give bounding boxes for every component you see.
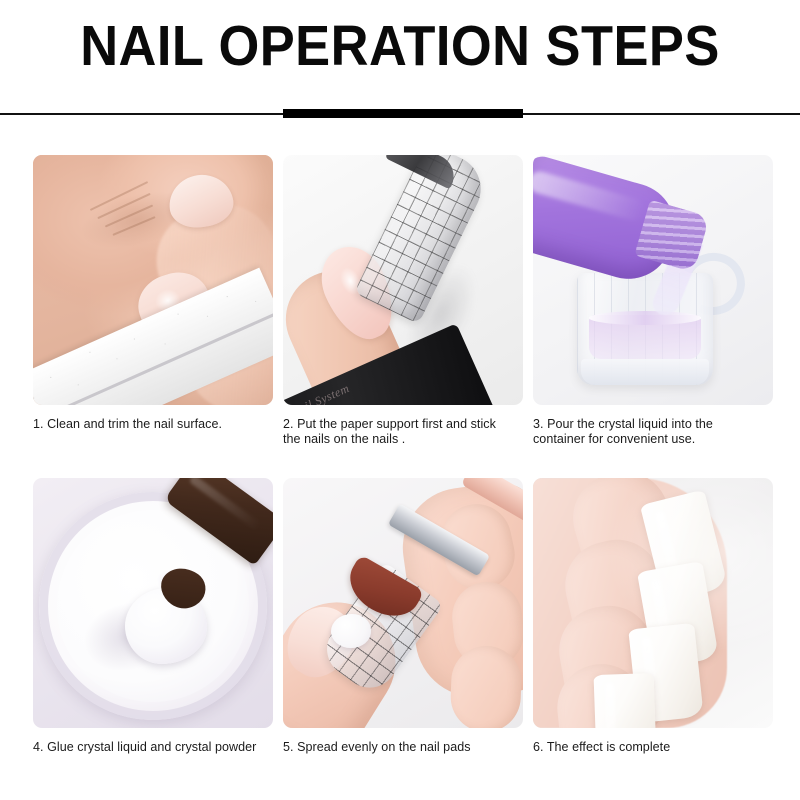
dish-base xyxy=(581,359,709,385)
divider-accent-bar xyxy=(283,109,523,118)
step-image-2: Nail System xyxy=(283,155,523,405)
step-card-3: 3. Pour the crystal liquid into the cont… xyxy=(533,155,773,447)
step-card-1: 1. Clean and trim the nail surface. xyxy=(33,155,273,447)
liquid-surface xyxy=(589,311,701,325)
step-image-4 xyxy=(33,478,273,728)
step-card-2: Nail System 2. Put the paper support fir… xyxy=(283,155,523,447)
step-card-6: 6. The effect is complete xyxy=(533,478,773,754)
step-caption-5: 5. Spread evenly on the nail pads xyxy=(283,739,511,754)
acrylic-blob xyxy=(331,614,371,648)
finger xyxy=(450,644,523,727)
step-caption-3: 3. Pour the crystal liquid into the cont… xyxy=(533,416,761,447)
step-card-4: 4. Glue crystal liquid and crystal powde… xyxy=(33,478,273,754)
step-caption-1: 1. Clean and trim the nail surface. xyxy=(33,416,261,431)
page-title: NAIL OPERATION STEPS xyxy=(32,18,768,75)
step-image-3 xyxy=(533,155,773,405)
step-caption-2: 2. Put the paper support first and stick… xyxy=(283,416,511,447)
light-glow xyxy=(533,478,773,728)
step-image-1 xyxy=(33,155,273,405)
title-divider xyxy=(0,106,800,122)
steps-grid: 1. Clean and trim the nail surface. Nail… xyxy=(33,155,773,754)
step-caption-4: 4. Glue crystal liquid and crystal powde… xyxy=(33,739,261,754)
step-image-6 xyxy=(533,478,773,728)
step-caption-6: 6. The effect is complete xyxy=(533,739,761,754)
step-image-5 xyxy=(283,478,523,728)
step-card-5: 5. Spread evenly on the nail pads xyxy=(283,478,523,754)
